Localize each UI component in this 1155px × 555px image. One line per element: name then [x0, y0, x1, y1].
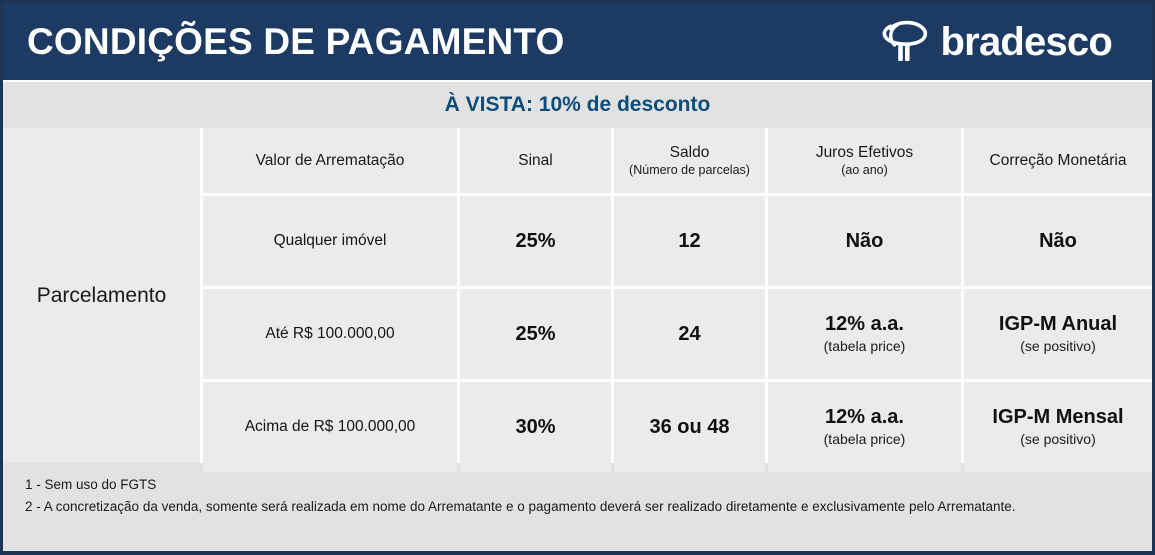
card-header: CONDIÇÕES DE PAGAMENTO bradesco — [3, 4, 1152, 82]
column-header-correcao: Correção Monetária — [964, 128, 1152, 193]
bradesco-tree-logo-icon — [877, 18, 931, 66]
footnote-2: 2 - A concretização da venda, somente se… — [25, 496, 1152, 518]
column-header-title: Valor de Arrematação — [256, 151, 405, 170]
footnotes: 1 - Sem uso do FGTS 2 - A concretização … — [3, 463, 1152, 533]
cell-value: Até R$ 100.000,00 — [265, 324, 394, 344]
column-header-valor: Valor de Arrematação — [203, 128, 457, 193]
cell-value: 12 — [678, 229, 700, 254]
discount-text: À VISTA: 10% de desconto — [445, 93, 711, 117]
cell-value: 25% — [515, 322, 555, 347]
column-header-title: Saldo — [670, 143, 710, 162]
table-grid: Valor de Arrematação Sinal Saldo (Número… — [203, 128, 1152, 463]
cell-note: (tabela price) — [824, 431, 906, 449]
cell-value: Não — [846, 229, 884, 254]
table-row: Até R$ 100.000,00 25% 24 12% a.a. (tabel… — [203, 289, 1152, 379]
column-header-title: Sinal — [518, 151, 552, 170]
cell-value: 12% a.a. — [825, 405, 904, 430]
cell-correcao: IGP-M Anual (se positivo) — [964, 289, 1152, 379]
cell-valor: Acima de R$ 100.000,00 — [203, 382, 457, 472]
page-title: CONDIÇÕES DE PAGAMENTO — [27, 21, 565, 63]
cell-valor: Qualquer imóvel — [203, 196, 457, 286]
cell-valor: Até R$ 100.000,00 — [203, 289, 457, 379]
cell-saldo: 12 — [614, 196, 765, 286]
cell-value: 30% — [515, 415, 555, 440]
cell-value: 12% a.a. — [825, 312, 904, 337]
footnote-1: 1 - Sem uso do FGTS — [25, 474, 1152, 496]
discount-banner: À VISTA: 10% de desconto — [3, 82, 1152, 128]
cell-juros: 12% a.a. (tabela price) — [768, 289, 961, 379]
payment-conditions-card: CONDIÇÕES DE PAGAMENTO bradesco À VISTA:… — [0, 0, 1155, 555]
cell-juros: Não — [768, 196, 961, 286]
cell-saldo: 24 — [614, 289, 765, 379]
cell-value: IGP-M Mensal — [992, 405, 1123, 430]
table-row: Acima de R$ 100.000,00 30% 36 ou 48 12% … — [203, 382, 1152, 472]
column-header-saldo: Saldo (Número de parcelas) — [614, 128, 765, 193]
column-header-title: Correção Monetária — [990, 151, 1127, 170]
cell-value: Qualquer imóvel — [274, 231, 387, 251]
cell-sinal: 25% — [460, 196, 611, 286]
cell-sinal: 30% — [460, 382, 611, 472]
column-header-juros: Juros Efetivos (ao ano) — [768, 128, 961, 193]
cell-juros: 12% a.a. (tabela price) — [768, 382, 961, 472]
column-header-title: Juros Efetivos — [816, 143, 913, 162]
conditions-table: Parcelamento Valor de Arrematação Sinal … — [3, 128, 1152, 463]
cell-value: 25% — [515, 229, 555, 254]
column-header-sinal: Sinal — [460, 128, 611, 193]
table-header-row: Valor de Arrematação Sinal Saldo (Número… — [203, 128, 1152, 193]
cell-note: (tabela price) — [824, 338, 906, 356]
cell-value: Acima de R$ 100.000,00 — [245, 417, 416, 437]
cell-saldo: 36 ou 48 — [614, 382, 765, 472]
cell-value: Não — [1039, 229, 1077, 254]
row-group-label: Parcelamento — [3, 128, 200, 463]
column-header-subtitle: (Número de parcelas) — [629, 163, 750, 178]
cell-value: 24 — [678, 322, 700, 347]
cell-note: (se positivo) — [1020, 338, 1095, 356]
cell-note: (se positivo) — [1020, 431, 1095, 449]
brand-name: bradesco — [941, 22, 1112, 62]
cell-correcao: Não — [964, 196, 1152, 286]
table-row: Qualquer imóvel 25% 12 Não Não — [203, 196, 1152, 286]
cell-value: 36 ou 48 — [649, 415, 729, 440]
cell-sinal: 25% — [460, 289, 611, 379]
column-header-subtitle: (ao ano) — [841, 163, 888, 178]
cell-value: IGP-M Anual — [999, 312, 1117, 337]
cell-correcao: IGP-M Mensal (se positivo) — [964, 382, 1152, 472]
bradesco-logo: bradesco — [877, 18, 1130, 66]
